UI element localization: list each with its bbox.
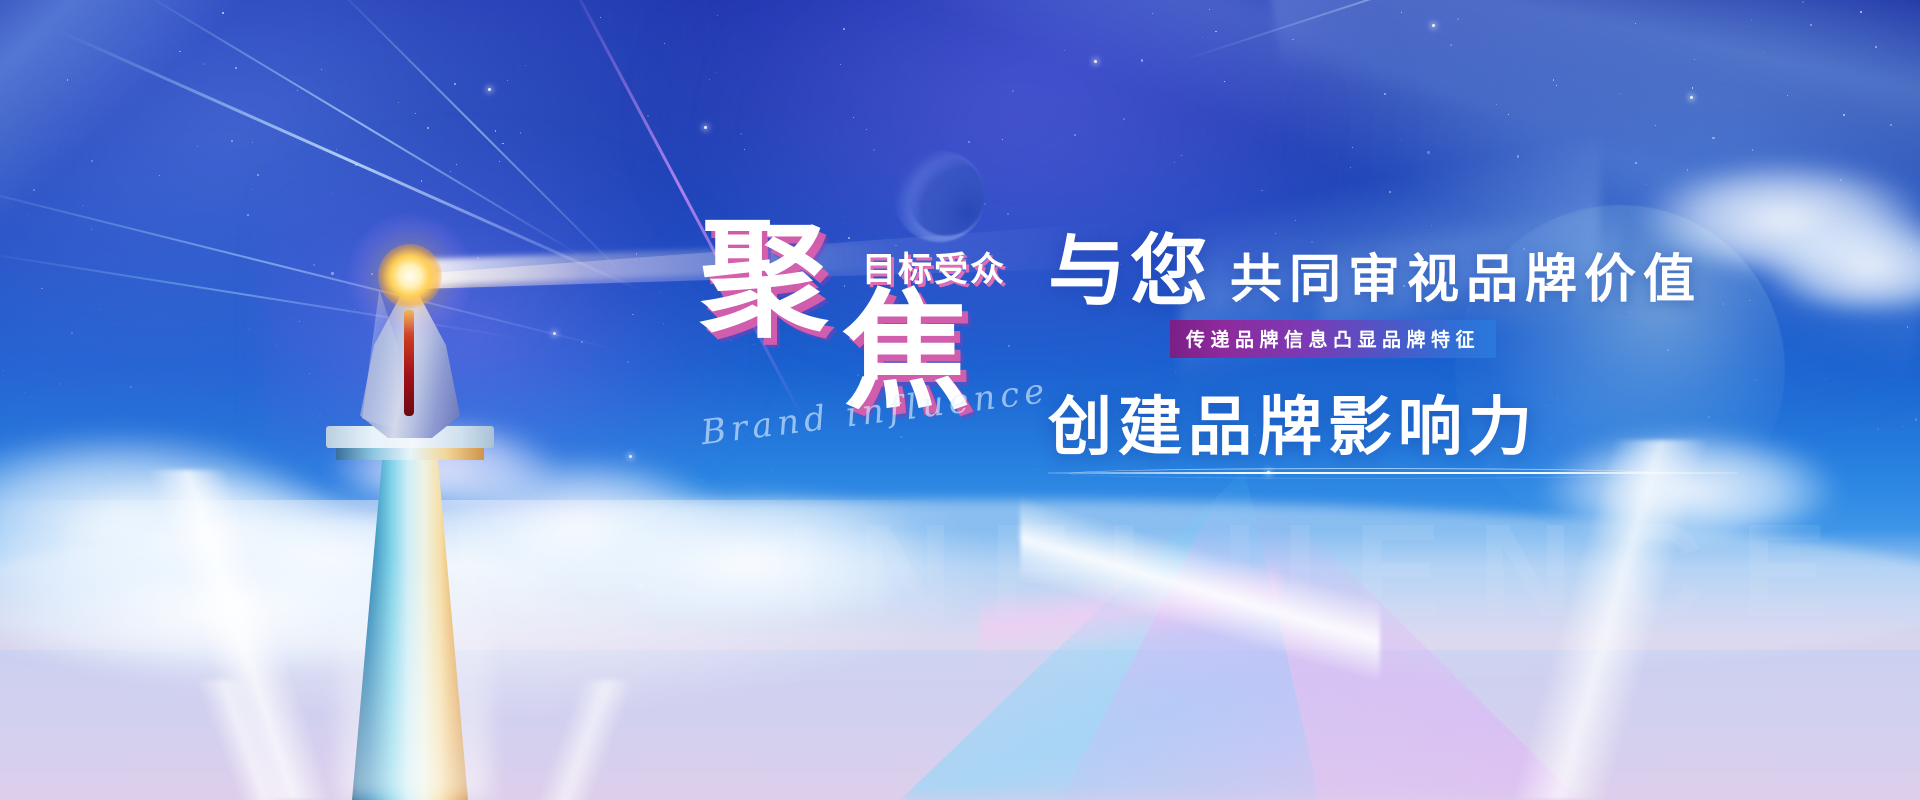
lighthouse-lamp-icon [378, 244, 442, 308]
subline-text: 创建品牌影响力 [1048, 376, 1538, 468]
audience-label: 目标受众 [862, 242, 1006, 291]
divider-line [1048, 472, 1738, 474]
hero-banner: BRAND INFLUENCE 聚 焦 目标受 [0, 0, 1920, 800]
light-ray [1180, 0, 1713, 62]
headline-divider [1048, 468, 1738, 480]
headline-block: 聚 焦 目标受众 Brand influence 与您 共同审视品牌价值 传递品… [700, 220, 1780, 640]
badge-strip: 传递品牌信息凸显品牌特征 [1170, 320, 1496, 358]
lead-text: 与您 [1048, 232, 1212, 310]
headline-char-ju: 聚 [700, 220, 826, 343]
cloud [1760, 215, 1920, 310]
tower-floor-beam-left [130, 680, 430, 800]
tagline-row: 与您 共同审视品牌价值 [1048, 232, 1702, 310]
tagline-text: 共同审视品牌价值 [1230, 254, 1702, 306]
pen-nib-lighthouse [300, 250, 520, 800]
tower-floor-beam-right [390, 680, 710, 800]
